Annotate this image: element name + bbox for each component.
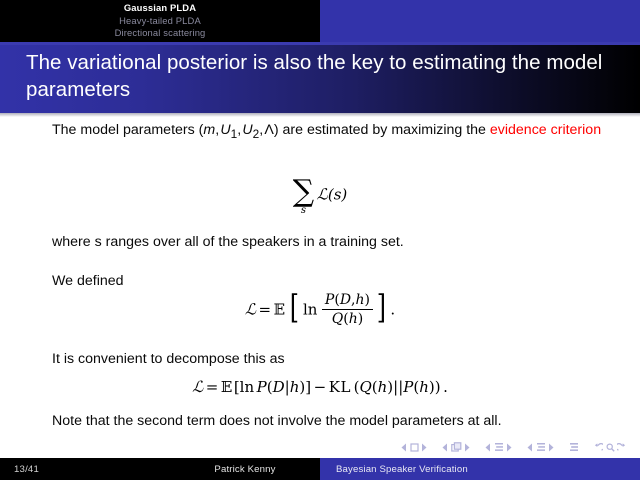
paragraph-speakers-range: where s ranges over all of the speakers … [52, 233, 612, 253]
prev-subsection-icon[interactable] [485, 443, 491, 452]
eq3-h2: h [378, 378, 388, 396]
page-title: The variational posterior is also the ke… [26, 49, 626, 103]
eq3-KL: KL [329, 378, 351, 396]
evidence-criterion-highlight: evidence criterion [490, 122, 601, 138]
eq3-ln: ln [240, 378, 254, 396]
next-slide-icon[interactable] [421, 443, 427, 452]
next-subsection-icon[interactable] [506, 443, 512, 452]
sigma-icon: ∑ [293, 179, 314, 205]
param-Lambda: Λ [264, 122, 273, 138]
prev-frame-icon[interactable] [442, 443, 448, 452]
beamer-navigation-symbols[interactable] [401, 440, 626, 454]
script-L-2: ℒ [245, 301, 256, 319]
subsection-nav-group[interactable] [485, 442, 512, 452]
paragraph-we-defined: We defined [52, 272, 612, 292]
eq2-num-P: P [325, 292, 334, 308]
paragraph-model-parameters: The model parameters (m, U1, U2, Λ) are … [52, 121, 612, 144]
nav-item-directional-scattering[interactable]: Directional scattering [0, 27, 320, 40]
next-frame-icon[interactable] [464, 443, 470, 452]
eq1-rparen: ) [341, 186, 347, 204]
eq3-Q: Q [359, 378, 371, 396]
search-icon[interactable] [606, 443, 615, 452]
talk-title: Bayesian Speaker Verification [336, 464, 468, 475]
slide-footer: 13/41 Patrick Kenny Bayesian Speaker Ver… [0, 458, 640, 480]
slide-title-bar: The variational posterior is also the ke… [0, 45, 640, 113]
slide-nav-group[interactable] [401, 443, 427, 452]
script-L-1: ℒ [317, 186, 328, 204]
eq3-h1: h [290, 378, 300, 396]
prev-section-icon[interactable] [527, 443, 533, 452]
prev-slide-icon[interactable] [401, 443, 407, 452]
para1-comma-2: , [237, 122, 241, 138]
eq2-numerator: P(D,h) [322, 292, 373, 310]
eq3-minus: − [314, 378, 327, 396]
eq3-P2: P [403, 378, 413, 396]
subsection-icon[interactable] [494, 442, 504, 452]
blackboard-E-1: 𝔼 [274, 301, 285, 319]
eq3-h3: h [419, 378, 429, 396]
eq3-rparen-2: ) [435, 378, 441, 396]
eq3-period: . [443, 378, 448, 396]
equation-elbo-decomposition: ℒ = 𝔼 [ln P(D|h)] − KL (Q(h)||P(h)) . [0, 378, 640, 396]
slide-header: Gaussian PLDA Heavy-tailed PLDA Directio… [0, 0, 640, 42]
para1-comma-3: , [259, 122, 263, 138]
summation-operator: ∑ s [293, 179, 314, 216]
equation-L-definition: ℒ = 𝔼 [ ln P(D,h) Q(h) ] . [0, 293, 640, 328]
frame-icon[interactable] [451, 442, 462, 452]
eq2-den-rparen: ) [358, 311, 363, 327]
history-nav-group[interactable] [594, 443, 626, 452]
eq3-right-bracket: ] [305, 378, 311, 396]
eq2-period: . [390, 301, 395, 319]
paragraph-decompose: It is convenient to decompose this as [52, 350, 612, 370]
next-section-icon[interactable] [548, 443, 554, 452]
eq2-ln: ln [303, 301, 317, 319]
eq2-den-h: h [349, 311, 358, 327]
eq3-equals: = [206, 378, 219, 396]
para1-text-before: The model parameters ( [52, 122, 203, 138]
equation-sum-likelihood: ∑ s ℒ(s) [0, 177, 640, 214]
eq2-num-D: D [340, 292, 351, 308]
nav-item-heavy-tailed-plda[interactable]: Heavy-tailed PLDA [0, 15, 320, 28]
para1-comma-1: , [215, 122, 219, 138]
eq2-equals: = [259, 301, 272, 319]
param-m: m [203, 122, 215, 138]
section-nav-group[interactable] [527, 442, 554, 452]
blackboard-E-2: 𝔼 [221, 378, 232, 396]
section-icon[interactable] [536, 442, 546, 452]
param-U1: U [220, 122, 230, 138]
eq2-denominator: Q(h) [322, 310, 373, 327]
slide-body: The model parameters (m, U1, U2, Λ) are … [0, 117, 640, 452]
para1-text-mid: ) are estimated by maximizing the [274, 122, 490, 138]
eq3-P1: P [257, 378, 267, 396]
param-U2: U [242, 122, 252, 138]
nav-item-gaussian-plda[interactable]: Gaussian PLDA [0, 2, 320, 15]
eq2-den-Q: Q [332, 311, 343, 327]
presentation-slide: Gaussian PLDA Heavy-tailed PLDA Directio… [0, 0, 640, 480]
author-name: Patrick Kenny [180, 464, 310, 475]
eq2-num-rparen: ) [365, 292, 370, 308]
forward-icon[interactable] [617, 443, 626, 452]
header-navigation: Gaussian PLDA Heavy-tailed PLDA Directio… [0, 2, 320, 40]
script-L-3: ℒ [192, 378, 203, 396]
page-number: 13/41 [14, 464, 39, 475]
eq2-fraction: P(D,h) Q(h) [322, 292, 373, 327]
eq2-num-h: h [356, 292, 365, 308]
paragraph-second-term-note: Note that the second term does not invol… [52, 412, 612, 432]
doc-icon[interactable] [569, 442, 579, 452]
frame-nav-group[interactable] [442, 442, 470, 452]
back-icon[interactable] [594, 443, 603, 452]
eq3-D: D [273, 378, 285, 396]
slide-box-icon[interactable] [410, 443, 419, 452]
eq3-doublebar: || [393, 378, 403, 396]
